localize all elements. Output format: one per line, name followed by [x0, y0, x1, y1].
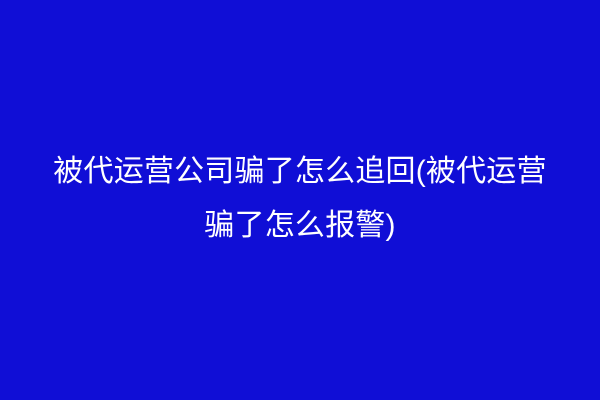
title-card-canvas: 被代运营公司骗了怎么追回(被代运营骗了怎么报警): [0, 0, 600, 400]
title-block: 被代运营公司骗了怎么追回(被代运营骗了怎么报警): [50, 145, 550, 253]
page-title: 被代运营公司骗了怎么追回(被代运营骗了怎么报警): [50, 145, 550, 253]
